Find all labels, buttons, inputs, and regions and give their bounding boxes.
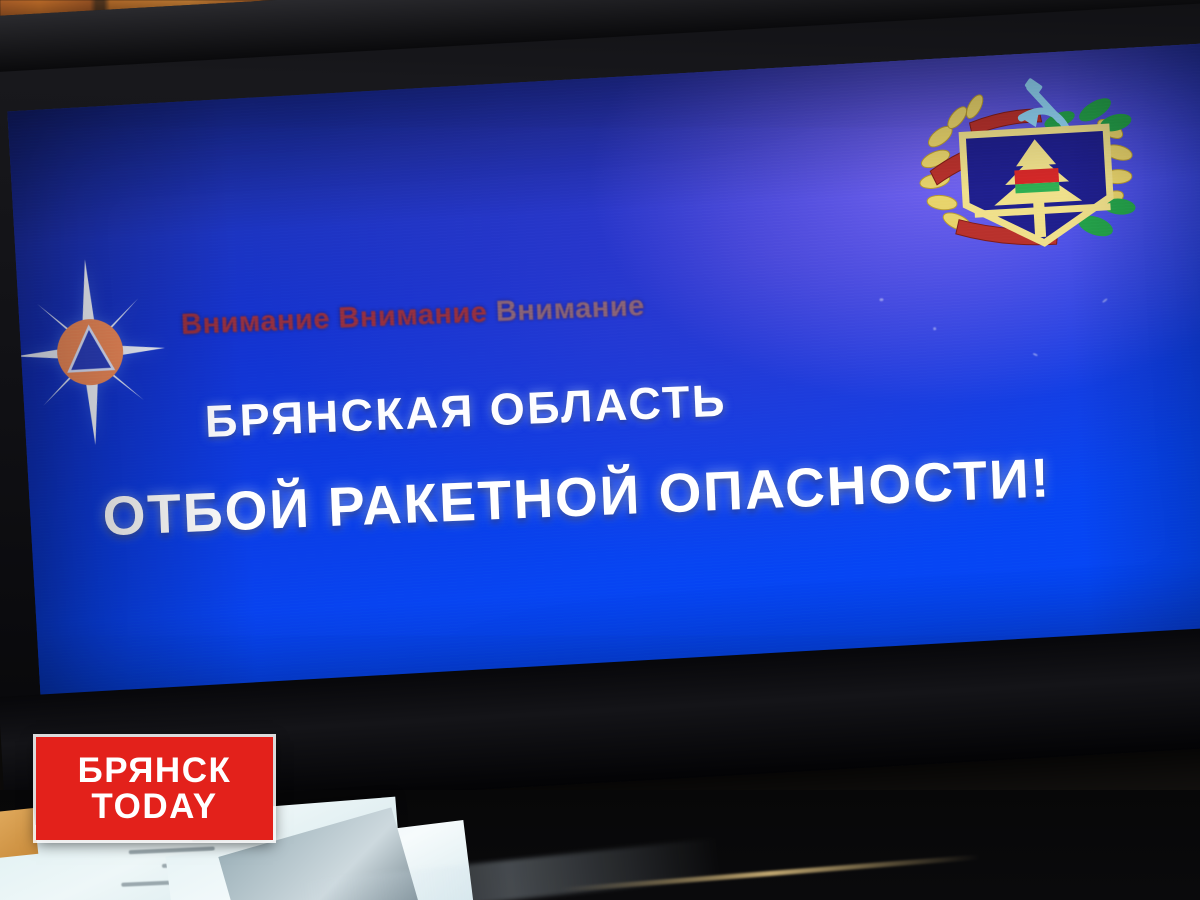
region-headline: БРЯНСКАЯ ОБЛАСТЬ	[204, 375, 728, 448]
tv-screen: Внимание Внимание Внимание БРЯНСКАЯ ОБЛА…	[7, 42, 1200, 720]
desk-folder-corner	[0, 808, 38, 858]
attention-word-1: Внимание	[180, 303, 330, 341]
alert-headline: ОТБОЙ РАКЕТНОЙ ОПАСНОСТИ!	[101, 445, 1052, 548]
attention-word-2: Внимание	[338, 296, 488, 334]
attention-word-3: Внимание	[495, 290, 645, 328]
screenshot-root: Внимание Внимание Внимание БРЯНСКАЯ ОБЛА…	[0, 0, 1200, 900]
bryansk-today-watermark: БРЯНСК TODAY	[36, 737, 273, 840]
attention-banner: Внимание Внимание Внимание	[180, 290, 645, 342]
screen-text-block: Внимание Внимание Внимание БРЯНСКАЯ ОБЛА…	[12, 52, 1200, 712]
television-body: Внимание Внимание Внимание БРЯНСКАЯ ОБЛА…	[0, 0, 1200, 817]
watermark-line-2: TODAY	[91, 789, 217, 825]
watermark-line-1: БРЯНСК	[78, 753, 232, 789]
